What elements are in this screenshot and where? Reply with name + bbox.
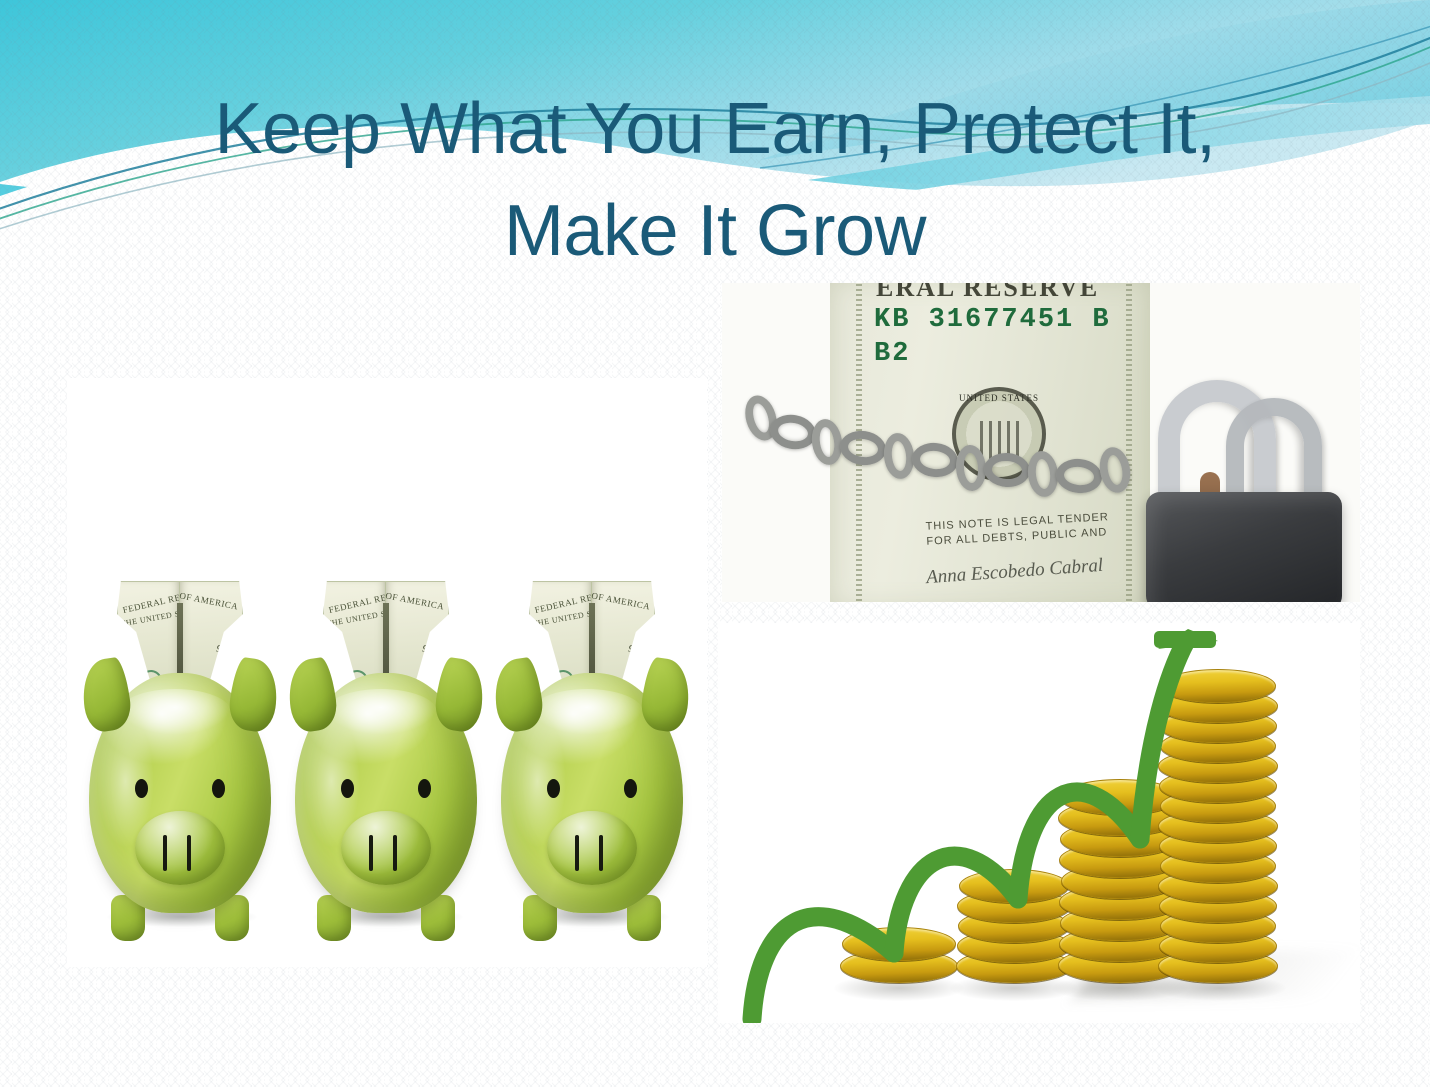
- piggy-highlight: [119, 689, 231, 735]
- bill-denomination: 1: [130, 651, 144, 674]
- piggy-snout: [547, 811, 637, 885]
- piggy-nostril-right: [599, 835, 603, 871]
- bill-text-america: OF AMERICA: [591, 590, 652, 611]
- piggy-eye-right: [418, 779, 431, 798]
- piggy-snout: [135, 811, 225, 885]
- piggy-bank-2: FEDERAL RES THE UNITED STATES 1 OF AMERI…: [295, 581, 477, 941]
- piggy-nostril-left: [163, 835, 167, 871]
- bill-serial-fragment: 9430: [627, 643, 649, 659]
- title-line-1: Keep What You Earn, Protect It,: [70, 78, 1360, 180]
- piggy-bank-3: FEDERAL RES THE UNITED STATES 1 OF AMERI…: [501, 581, 683, 941]
- piggy-snout: [341, 811, 431, 885]
- chain-link: [1054, 457, 1103, 496]
- bill-denomination: 1: [336, 651, 350, 674]
- piggy-eye-left: [547, 779, 560, 798]
- piggy-eye-left: [135, 779, 148, 798]
- bill-text-america: OF AMERICA: [179, 590, 240, 611]
- chain-link: [882, 432, 917, 481]
- presentation-slide: Keep What You Earn, Protect It, Make It …: [0, 0, 1430, 1087]
- banknote-header-text: ERAL RESERVE: [876, 283, 1099, 303]
- piggy-eye-right: [624, 779, 637, 798]
- image-locked-dollar-bill: ERAL RESERVE KB 31677451 B B2 UNITED STA…: [722, 283, 1360, 602]
- chain-link: [954, 444, 987, 492]
- bill-serial-fragment: 9430: [421, 643, 443, 659]
- piggy-eye-left: [341, 779, 354, 798]
- lock-stage: ERAL RESERVE KB 31677451 B B2 UNITED STA…: [722, 283, 1360, 602]
- banknote-legal-text: THIS NOTE IS LEGAL TENDER FOR ALL DEBTS,…: [925, 510, 1110, 550]
- image-three-piggy-banks: FEDERAL RES THE UNITED STATES 1 OF AMERI…: [67, 378, 707, 967]
- chain-link: [1096, 445, 1134, 496]
- chain-link: [910, 441, 959, 480]
- bill-serial-fragment: 9430: [215, 643, 237, 659]
- arrow-head-bar: [1154, 631, 1216, 648]
- piggy-eye-right: [212, 779, 225, 798]
- piggy-highlight: [531, 689, 643, 735]
- banknote-signature: Anna Escobedo Cabral: [925, 555, 1103, 589]
- piggy-nostril-left: [575, 835, 579, 871]
- piggy-nostril-right: [393, 835, 397, 871]
- bill-text-america: OF AMERICA: [385, 590, 446, 611]
- chain-link: [838, 428, 888, 468]
- image-growth-coin-stacks: [718, 623, 1360, 1023]
- padlock-icon: [1134, 380, 1344, 602]
- piggy-body: [89, 673, 271, 913]
- banknote-serial-suffix: B2: [874, 339, 910, 369]
- title-line-2: Make It Grow: [70, 180, 1360, 282]
- coins-stage: [718, 623, 1360, 1023]
- bill-denomination: 1: [542, 651, 556, 674]
- piggy-bank-1: FEDERAL RES THE UNITED STATES 1 OF AMERI…: [89, 581, 271, 941]
- piggy-body: [295, 673, 477, 913]
- piggy-stage: FEDERAL RES THE UNITED STATES 1 OF AMERI…: [67, 378, 707, 967]
- piggy-nostril-right: [187, 835, 191, 871]
- slide-title: Keep What You Earn, Protect It, Make It …: [70, 78, 1360, 282]
- piggy-highlight: [325, 689, 437, 735]
- piggy-body: [501, 673, 683, 913]
- banknote-serial-number: KB 31677451 B: [874, 305, 1111, 335]
- chain-link: [983, 451, 1031, 488]
- green-growth-arrow-icon: [718, 623, 1360, 1023]
- padlock-body: [1146, 492, 1342, 602]
- chain-icon: [736, 373, 1156, 503]
- piggy-nostril-left: [369, 835, 373, 871]
